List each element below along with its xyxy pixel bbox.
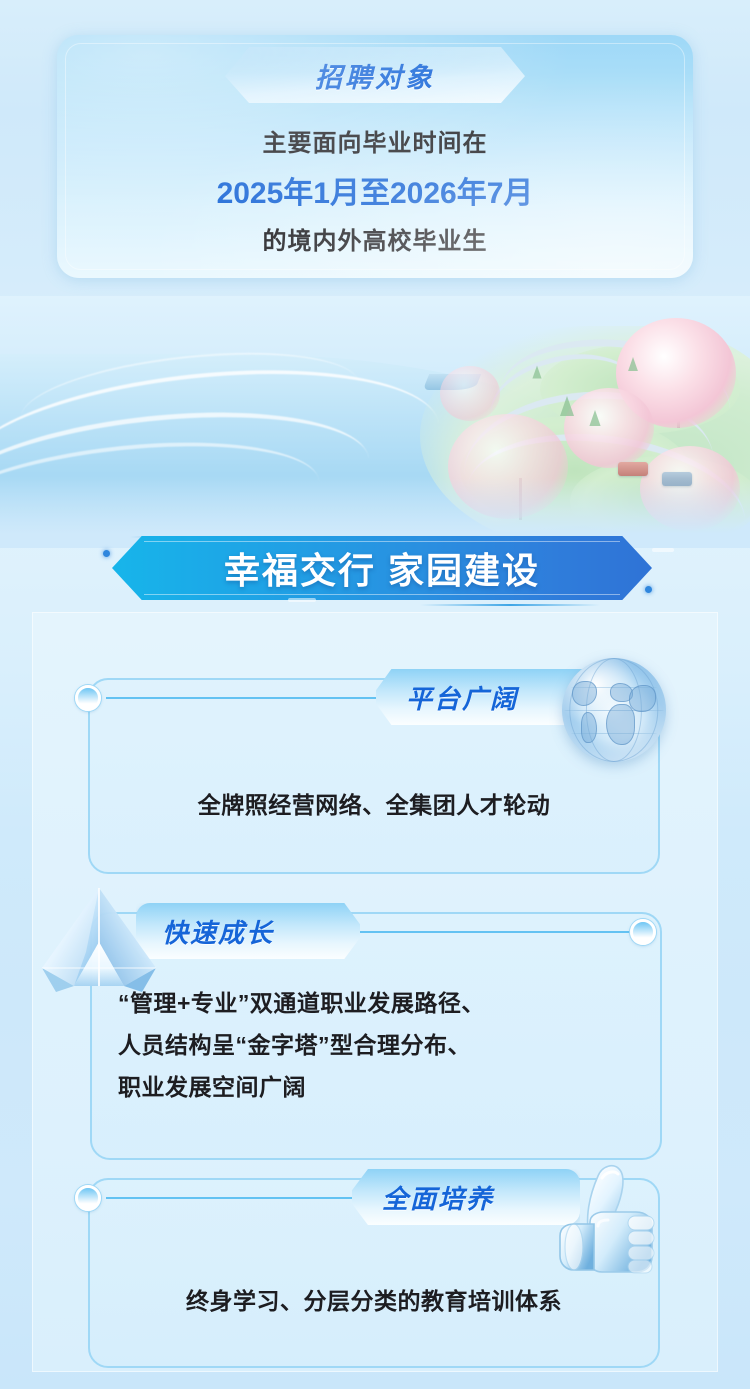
vehicle-red-bus <box>618 462 648 476</box>
title-tick-mark <box>288 598 316 602</box>
main-title-text: 幸福交行 家园建设 <box>112 536 652 600</box>
card-node-dot <box>630 919 656 945</box>
main-title-section: 幸福交行 家园建设 <box>0 528 750 612</box>
features-section: 平台广阔 全牌照经营网络、全集团人才轮动 快速成长 <box>32 612 718 1372</box>
globe-continent <box>606 704 635 746</box>
evergreen-tree <box>532 366 541 379</box>
feature-card-platform[interactable]: 平台广阔 全牌照经营网络、全集团人才轮动 <box>32 658 718 888</box>
feature-card-training[interactable]: 全面培养 <box>32 1152 718 1372</box>
feature-description: 终身学习、分层分类的教育培训体系 <box>88 1280 660 1322</box>
thumbs-up-icon <box>532 1144 667 1294</box>
evergreen-tree <box>628 357 638 371</box>
audience-line-highlight: 2025年1月至2026年7月 <box>215 171 536 217</box>
globe-continent <box>629 685 656 712</box>
feature-description: “管理+专业”双通道职业发展路径、 人员结构呈“金字塔”型合理分布、 职业发展空… <box>118 982 638 1108</box>
globe-icon <box>562 658 666 762</box>
audience-badge: 招聘对象 <box>225 47 525 103</box>
feature-description-line: “管理+专业”双通道职业发展路径、 <box>118 982 638 1024</box>
globe-sphere <box>562 658 666 762</box>
scenery-illustration <box>0 296 750 548</box>
feature-label-pill: 快速成长 <box>136 903 360 959</box>
feature-description-line: 人员结构呈“金字塔”型合理分布、 <box>118 1024 638 1066</box>
card-connector-line <box>350 931 642 933</box>
card-connector-line <box>106 1197 356 1199</box>
audience-line-3: 的境内外高校毕业生 <box>57 219 693 265</box>
cherry-blossom-tree <box>564 388 654 468</box>
audience-panel: 招聘对象 主要面向毕业时间在 2025年1月至2026年7月 的境内外高校毕业生 <box>57 35 693 278</box>
audience-line-1: 主要面向毕业时间在 <box>57 121 693 167</box>
audience-badge-label: 招聘对象 <box>315 56 435 95</box>
audience-body: 主要面向毕业时间在 2025年1月至2026年7月 的境内外高校毕业生 <box>57 121 693 265</box>
cherry-blossom-tree <box>440 366 500 421</box>
feature-description: 全牌照经营网络、全集团人才轮动 <box>88 784 660 826</box>
title-decor-line-bottom <box>420 604 600 606</box>
feature-label-text: 全面培养 <box>382 1179 494 1216</box>
feature-card-growth[interactable]: 快速成长 <box>32 882 718 1172</box>
title-tick-mark <box>652 548 674 552</box>
thumbs-up-svg <box>532 1144 667 1289</box>
card-connector-line <box>106 697 380 699</box>
evergreen-tree <box>560 396 574 416</box>
card-node-dot <box>75 1185 101 1211</box>
title-decor-dot-left <box>103 550 110 557</box>
evergreen-tree <box>589 410 600 426</box>
main-title-banner: 幸福交行 家园建设 <box>112 536 652 600</box>
card-node-dot <box>75 685 101 711</box>
feature-label-text: 平台广阔 <box>406 679 518 716</box>
feature-description-line: 职业发展空间广阔 <box>118 1066 638 1108</box>
audience-section: 招聘对象 主要面向毕业时间在 2025年1月至2026年7月 的境内外高校毕业生 <box>0 0 750 300</box>
feature-label-text: 快速成长 <box>162 913 274 950</box>
